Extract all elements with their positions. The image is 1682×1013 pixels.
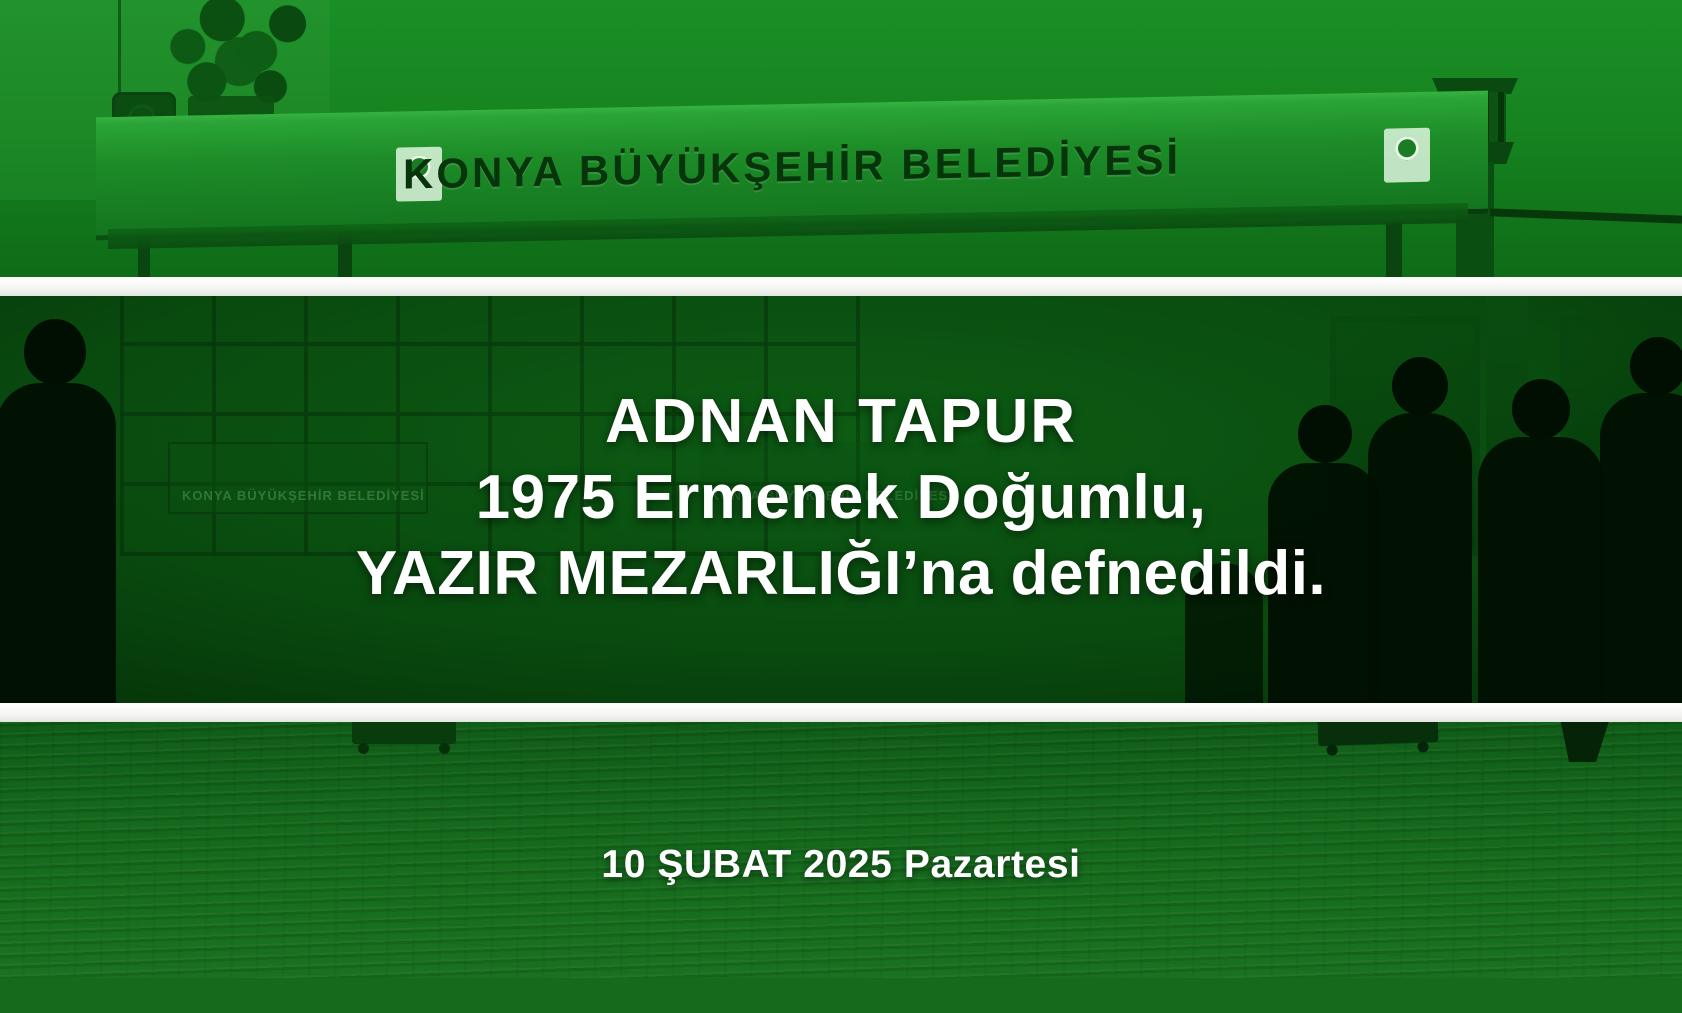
funeral-announcement-poster: KONYA BÜYÜKŞEHİR BELEDİYESİ KONYA BÜYÜKŞ… — [0, 0, 1682, 1013]
date-line: 10 ŞUBAT 2025 Pazartesi — [0, 722, 1682, 978]
divider-bar-top — [0, 277, 1682, 296]
bottom-color-strip — [0, 978, 1682, 1013]
bottom-photo-band: 10 ŞUBAT 2025 Pazartesi — [0, 722, 1682, 978]
divider-bar-bottom — [0, 703, 1682, 722]
deceased-name: ADNAN TAPUR — [605, 389, 1077, 456]
top-photo-band: KONYA BÜYÜKŞEHİR BELEDİYESİ — [0, 0, 1682, 277]
middle-photo-band: KONYA BÜYÜKŞEHİR BELEDİYESİ KONYA BÜYÜKŞ… — [0, 296, 1682, 703]
birth-info-line: 1975 Ermenek Doğumlu, — [476, 462, 1207, 534]
headline-block: ADNAN TAPUR 1975 Ermenek Doğumlu, YAZIR … — [0, 296, 1682, 703]
burial-info-line: YAZIR MEZARLIĞI’na defnedildi. — [356, 538, 1326, 610]
support-pole-right — [1386, 222, 1402, 277]
